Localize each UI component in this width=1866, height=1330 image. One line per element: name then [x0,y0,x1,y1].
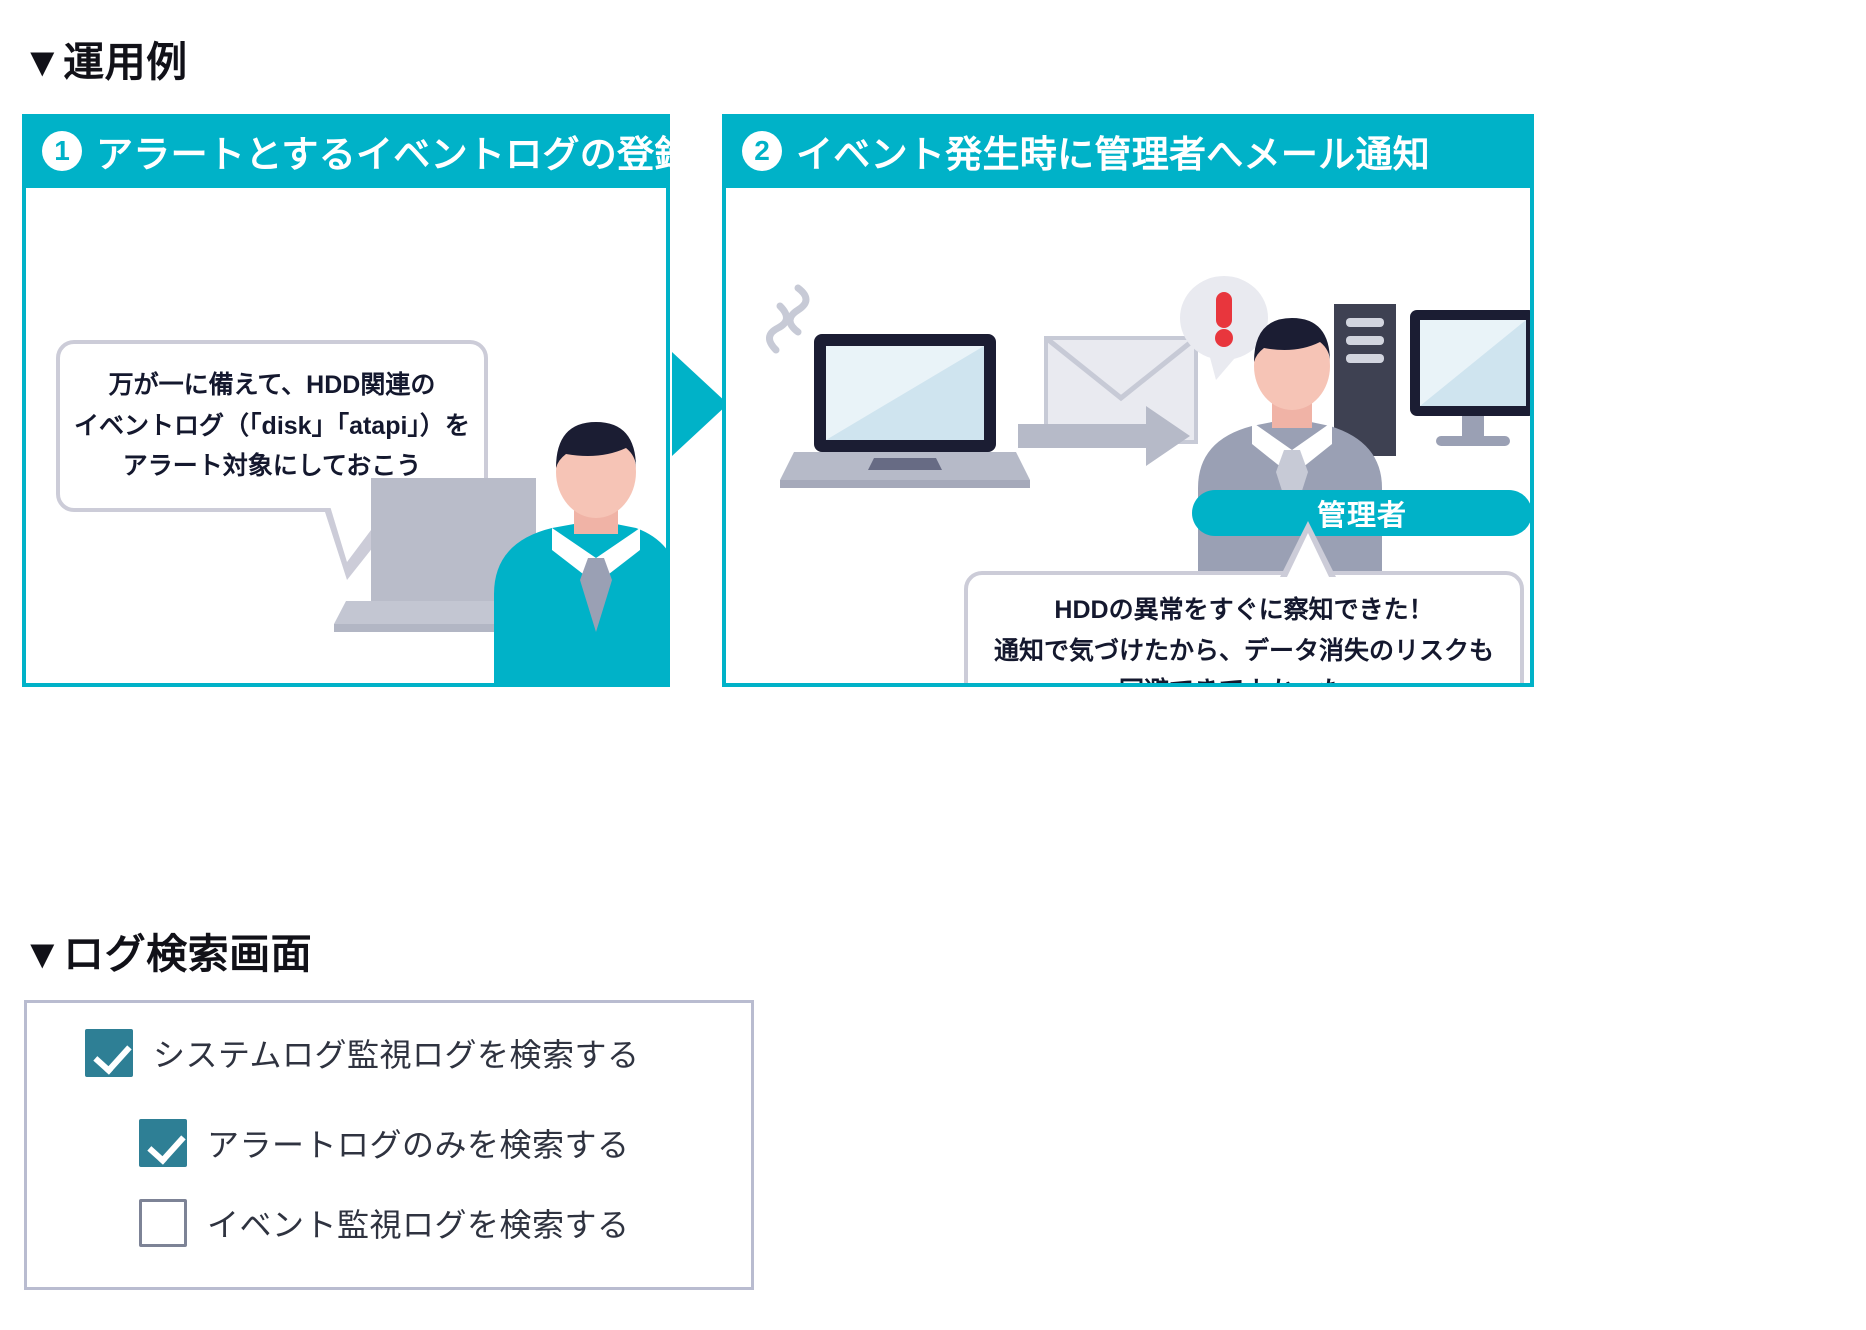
panel-2-number: 2 [742,131,782,171]
speech-bubble-manager: HDDの異常をすぐに察知できた！ 通知で気づけたから、データ消失のリスクも 回避… [964,571,1524,683]
smoke-icon [769,288,806,350]
bubble-1-line-1: 万が一に備えて、HDD関連の [109,365,436,406]
panel-alert-registration: 1 アラートとするイベントログの登録 万が一に備えて、HDD関連の イベントログ… [22,114,670,687]
right-arrow-icon [672,352,728,456]
checkbox-row-alert-log-only[interactable]: アラートログのみを検索する [139,1119,630,1167]
checkbox-row-event-monitor-log[interactable]: イベント監視ログを検索する [139,1199,630,1247]
page-root: ▼運用例 1 アラートとするイベントログの登録 万が一に備えて、HDD関連の イ… [0,0,1866,1330]
section-heading-operation-example: ▼運用例 [22,28,188,88]
panel-1-number: 1 [42,131,82,171]
panel-email-notification: 2 イベント発生時に管理者へメール通知 [722,114,1534,687]
person-at-laptop-illustration [326,416,666,683]
manager-badge: 管理者 [1192,490,1530,536]
panel-2-header: 2 イベント発生時に管理者へメール通知 [722,114,1534,188]
panel-1-body: 万が一に備えて、HDD関連の イベントログ（「disk」「atapi」）を アラ… [26,188,666,683]
checkbox-event-monitor-log[interactable] [139,1199,187,1247]
panel-1-header: 1 アラートとするイベントログの登録 [22,114,670,188]
checkbox-label-alert-log-only: アラートログのみを検索する [207,1120,630,1166]
monitor-icon [1410,310,1530,446]
speech-bubble-tail-fill [1286,533,1330,579]
log-search-options-card: システムログ監視ログを検索する アラートログのみを検索する イベント監視ログを検… [24,1000,754,1290]
checkbox-row-system-log[interactable]: システムログ監視ログを検索する [85,1029,640,1077]
panel-2-title: イベント発生時に管理者へメール通知 [796,124,1430,178]
checkbox-system-log[interactable] [85,1029,133,1077]
laptop-icon [780,334,1030,488]
panel-1-title: アラートとするイベントログの登録 [96,124,692,178]
bubble-2-line-2: 通知で気づけたから、データ消失のリスクも [994,631,1494,672]
checkbox-alert-log-only[interactable] [139,1119,187,1167]
checkbox-label-event-monitor-log: イベント監視ログを検索する [207,1200,630,1246]
section-heading-log-search: ▼ログ検索画面 [22,920,312,980]
checkbox-label-system-log: システムログ監視ログを検索する [153,1030,640,1076]
bubble-2-line-1: HDDの異常をすぐに察知できた！ [1054,590,1433,631]
panel-2-body: 管理者 HDDの異常をすぐに察知できた！ 通知で気づけたから、データ消失のリスク… [726,188,1530,683]
bubble-2-line-3: 回避できてよかった… [1119,671,1369,683]
